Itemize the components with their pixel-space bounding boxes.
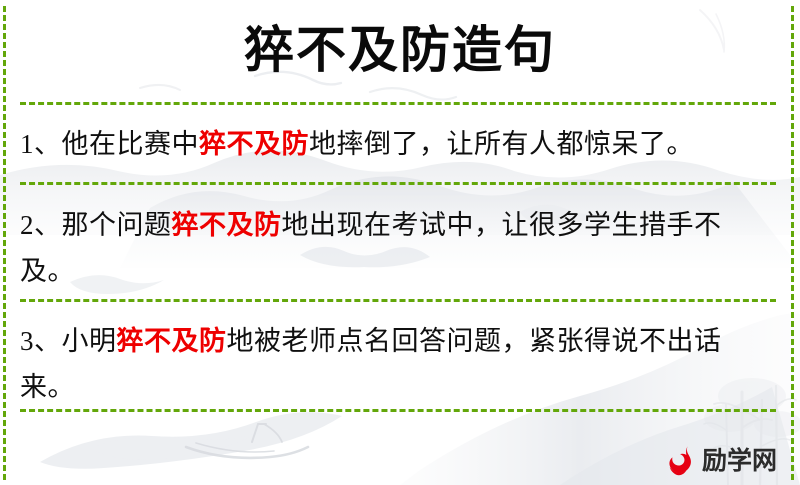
- sentence-2-text-before: 那个问题: [62, 210, 172, 240]
- sentence-item-2: 2、那个问题猝不及防地出现在考试中，让很多学生措手不及。: [20, 202, 772, 294]
- sentence-1-idiom: 猝不及防: [199, 129, 309, 159]
- separator-line-2: [20, 182, 776, 185]
- sentence-item-3: 3、小明猝不及防地被老师点名回答问题，紧张得说不出话来。: [20, 318, 772, 410]
- site-logo: 励学网: [663, 440, 785, 482]
- sentence-1-text-before: 他在比赛中: [62, 129, 200, 159]
- sentence-2-number: 2、: [20, 210, 62, 240]
- site-logo-text: 励学网: [702, 447, 777, 475]
- separator-line-3: [20, 299, 776, 302]
- page-title: 猝不及防造句: [0, 8, 800, 92]
- sentence-3-idiom: 猝不及防: [117, 326, 227, 356]
- sentence-3-number: 3、: [20, 326, 62, 356]
- sentence-item-1: 1、他在比赛中猝不及防地摔倒了，让所有人都惊呆了。: [20, 121, 772, 167]
- sentence-1-text-after: 地摔倒了，让所有人都惊呆了。: [309, 129, 694, 159]
- red-swirl-flame-icon: [663, 443, 699, 479]
- sentence-1-number: 1、: [20, 129, 62, 159]
- sentence-2-idiom: 猝不及防: [172, 210, 282, 240]
- sentence-3-text-before: 小明: [62, 326, 117, 356]
- slide-page: 猝不及防造句 1、他在比赛中猝不及防地摔倒了，让所有人都惊呆了。 2、那个问题猝…: [0, 0, 800, 485]
- separator-line-1: [20, 102, 776, 105]
